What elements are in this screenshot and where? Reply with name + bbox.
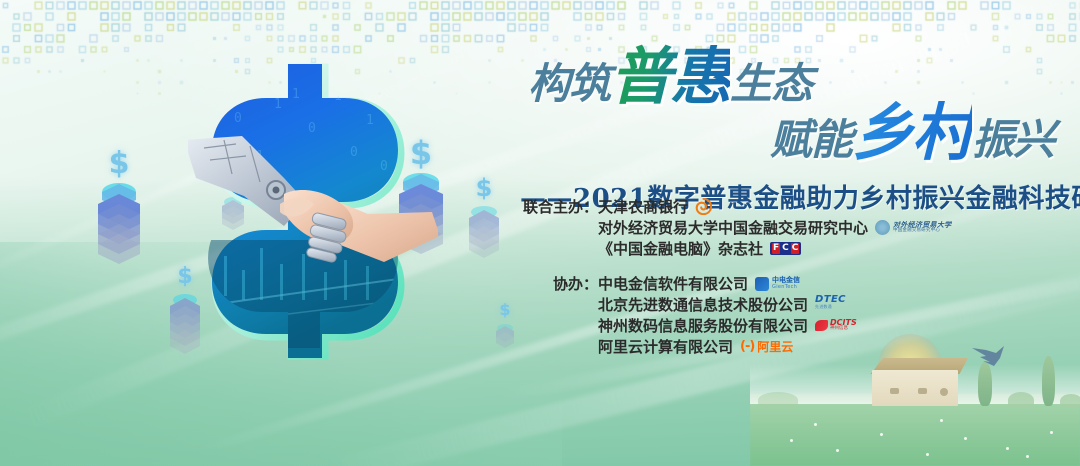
title-segment-emphasis: 乡村 [852, 96, 972, 169]
uibe-logo: 对外经济贸易大学 中国金融交易研究中心 [875, 218, 951, 238]
organizer-row: 对外经济贸易大学中国金融交易研究中心 对外经济贸易大学 中国金融交易研究中心 [520, 217, 1080, 238]
organizer-row: 北京先进数通信息技术股份公司 DTEC 先进数通 [520, 294, 1080, 315]
fcc-letter: C [791, 243, 800, 254]
svg-text:1: 1 [366, 113, 374, 128]
dtec-logo-primary: DTEC [815, 295, 846, 305]
coin-stack: $ [88, 180, 150, 272]
dollar-handshake-illustration: $ $ [88, 52, 508, 382]
fcc-logo: FCC [770, 239, 801, 259]
event-banner: $ $ [0, 0, 1080, 466]
organizer-name: 天津农商银行 [598, 196, 688, 217]
handshake-illustration [188, 134, 438, 284]
dollar-symbol: $ [499, 300, 510, 319]
dcits-logo: DCITS 神州信息 [815, 316, 857, 336]
organizer-name: 神州数码信息服务股份有限公司 [598, 315, 808, 336]
cetc-logo-secondary: GienTech [772, 285, 800, 290]
title-segment: 赋能 [770, 115, 852, 164]
aliyun-logo: (-) 阿里云 [740, 337, 793, 357]
bush-shape [758, 392, 798, 408]
svg-text:1: 1 [274, 97, 282, 112]
organizer-name: 对外经济贸易大学中国金融交易研究中心 [598, 217, 868, 238]
fcc-letter: C [781, 243, 790, 254]
dcits-logo-secondary: 神州信息 [830, 327, 857, 332]
dtec-logo-secondary: 先进数通 [815, 305, 832, 309]
window-shape [918, 388, 927, 394]
title-segment: 振兴 [972, 115, 1054, 164]
host-label: 联合主办： [520, 196, 598, 217]
bush-shape [1008, 392, 1034, 408]
title-segment-emphasis: 普惠 [610, 40, 730, 113]
organizer-name: 《中国金融电脑》杂志社 [598, 238, 763, 259]
organizer-name: 中电金信软件有限公司 [598, 273, 748, 294]
organizer-name: 北京先进数通信息技术股份公司 [598, 294, 808, 315]
organizer-row: 协办： 中电金信软件有限公司 中电金信 GienTech [520, 273, 1080, 294]
window-shape [890, 388, 899, 394]
uibe-logo-secondary: 中国金融交易研究中心 [893, 229, 951, 234]
svg-text:1: 1 [292, 87, 300, 102]
cetc-mark-icon [755, 277, 769, 291]
cetc-gintech-logo: 中电金信 GienTech [755, 274, 800, 294]
title-segment: 生态 [730, 59, 812, 108]
title-line-1: 构筑普惠生态 [520, 46, 1068, 108]
svg-text:1: 1 [334, 89, 342, 104]
organizer-row: 神州数码信息服务股份有限公司 DCITS 神州信息 [520, 315, 1080, 336]
dcits-swoosh-icon [815, 320, 828, 331]
fcc-letter: F [772, 243, 780, 254]
title-line-2: 赋能乡村振兴 [520, 102, 1068, 164]
aliyun-bracket-icon: (-) [740, 340, 754, 353]
organizers-block: 联合主办： 天津农商银行 对外经济贸易大学中国金融交易研究中心 对外经济贸易大学… [520, 196, 1080, 371]
coin-stack: $ [490, 320, 520, 360]
support-label: 协办： [520, 273, 598, 294]
dtec-logo: DTEC 先进数通 [815, 295, 846, 315]
round-window-shape [940, 388, 948, 396]
tjrcb-logo [695, 197, 712, 217]
host-organizers-group: 联合主办： 天津农商银行 对外经济贸易大学中国金融交易研究中心 对外经济贸易大学… [520, 196, 1080, 259]
organizer-name: 阿里云计算有限公司 [598, 336, 733, 357]
svg-text:0: 0 [234, 111, 242, 126]
support-organizers-group: 协办： 中电金信软件有限公司 中电金信 GienTech 北京先进数通信息技术股… [520, 273, 1080, 357]
aliyun-logo-name: 阿里云 [757, 341, 793, 353]
dollar-symbol: $ [109, 146, 130, 181]
title-segment: 构筑 [528, 59, 610, 108]
title-block: 构筑普惠生态 赋能乡村振兴 ——2021数字普惠金融助力乡村振兴金融科技研讨会 [520, 46, 1068, 215]
organizer-row: 《中国金融电脑》杂志社 FCC [520, 238, 1080, 259]
uibe-seal-icon [875, 220, 890, 235]
bush-shape [1060, 394, 1080, 408]
organizer-row: 阿里云计算有限公司 (-) 阿里云 [520, 336, 1080, 357]
organizer-row: 联合主办： 天津农商银行 [520, 196, 1080, 217]
dollar-symbol: $ [476, 174, 493, 202]
coin-stack: $ [460, 202, 508, 282]
